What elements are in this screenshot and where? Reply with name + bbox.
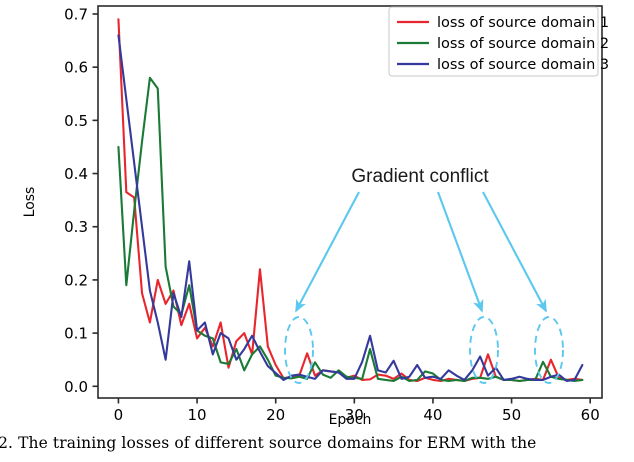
x-tick-label: 50 [502,406,521,424]
loss-curves-chart: 01020304050600.00.10.20.30.40.50.60.7 Gr… [0,0,634,434]
annotation-label: Gradient conflict [351,166,489,187]
legend: loss of source domain 1loss of source do… [389,7,609,76]
x-tick-label: 0 [114,406,124,424]
y-tick-label: 0.1 [64,325,88,343]
legend-label-1: loss of source domain 1 [437,15,609,31]
y-tick-label: 0.6 [64,59,88,77]
figure-caption-wrap: g. 2. The training losses of different s… [0,434,634,462]
x-tick-label: 60 [581,406,600,424]
y-tick-label: 0.4 [64,165,88,183]
annotation-arrow-2 [438,192,482,311]
x-tick-label: 10 [188,406,207,424]
annotation-arrow-1 [296,192,359,311]
figure-caption: g. 2. The training losses of different s… [0,434,536,452]
x-axis-label: Epoch [329,412,372,428]
y-axis-label: Loss [22,187,38,218]
figure-container: 01020304050600.00.10.20.30.40.50.60.7 Gr… [0,0,634,462]
legend-label-2: loss of source domain 2 [437,36,609,52]
annotation-arrow-3 [483,192,546,311]
series-line-2 [118,78,582,381]
y-tick-label: 0.7 [64,5,88,23]
y-tick-label: 0.3 [64,218,88,236]
x-tick-label: 20 [266,406,285,424]
gradient-conflict-annotation: Gradient conflict [285,166,563,383]
legend-label-3: loss of source domain 3 [437,57,609,73]
y-tick-label: 0.2 [64,271,88,289]
y-tick-label: 0.5 [64,112,88,130]
y-tick-label: 0.0 [64,378,88,396]
x-tick-label: 40 [423,406,442,424]
